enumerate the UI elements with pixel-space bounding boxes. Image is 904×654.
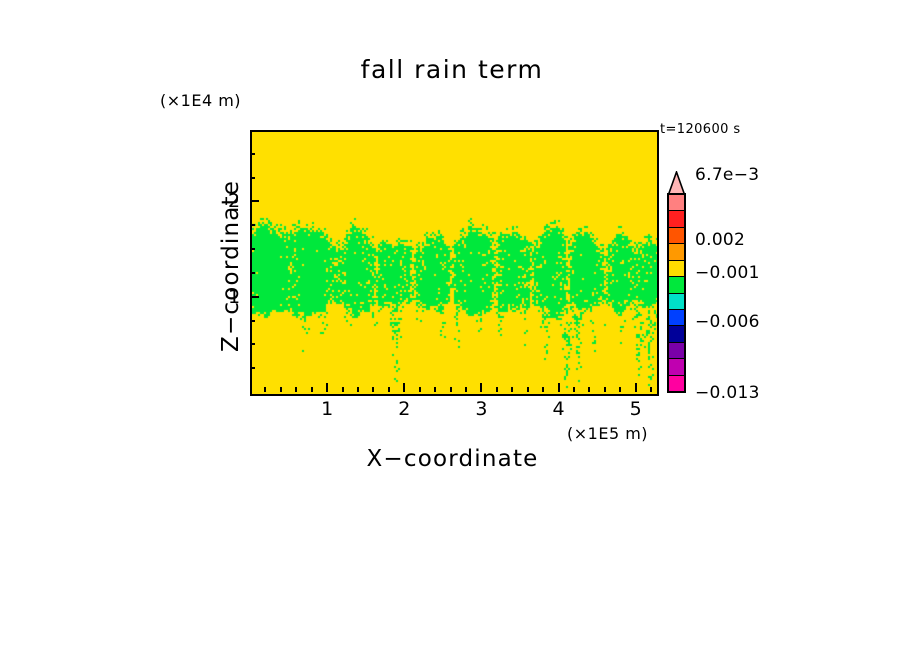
x-axis-title: X−coordinate	[250, 446, 655, 472]
colorbar-band	[669, 310, 684, 326]
colorbar	[667, 171, 686, 393]
x-tick-label: 5	[630, 398, 642, 420]
y-axis-unit-label: (×1E4 m)	[160, 91, 241, 110]
colorbar-band	[669, 294, 684, 310]
x-tick-label: 2	[398, 398, 410, 420]
colorbar-tick-label: −0.013	[695, 383, 760, 403]
timestamp-annotation: t=120600 s	[660, 122, 741, 137]
colorbar-band	[669, 376, 684, 391]
x-tick-label: 4	[553, 398, 565, 420]
colorbar-band	[669, 277, 684, 293]
colorbar-tick-label: −0.006	[695, 312, 760, 332]
colorbar-tick-label: −0.001	[695, 263, 760, 283]
colorbar-band	[669, 343, 684, 359]
heatmap-canvas	[252, 132, 657, 394]
colorbar-band	[669, 211, 684, 227]
colorbar-band	[669, 228, 684, 244]
x-tick-label: 1	[321, 398, 333, 420]
figure: fall rain term (×1E4 m) t=120600 s Z−coo…	[0, 0, 904, 654]
colorbar-band	[669, 244, 684, 260]
colorbar-band	[669, 195, 684, 211]
y-tick-label: 2	[228, 190, 240, 212]
colorbar-tick-label: 0.002	[695, 230, 745, 250]
chart-title: fall rain term	[0, 55, 904, 84]
colorbar-arrow-tip	[667, 171, 686, 195]
x-axis-unit-label: (×1E5 m)	[567, 424, 648, 443]
y-tick-label: 1	[228, 286, 240, 308]
plot-area	[250, 130, 659, 396]
colorbar-tick-label: 6.7e−3	[695, 165, 759, 185]
colorbar-band	[669, 359, 684, 375]
x-tick-label: 3	[475, 398, 487, 420]
colorbar-band	[669, 326, 684, 342]
colorbar-bands	[667, 193, 686, 393]
colorbar-band	[669, 261, 684, 277]
